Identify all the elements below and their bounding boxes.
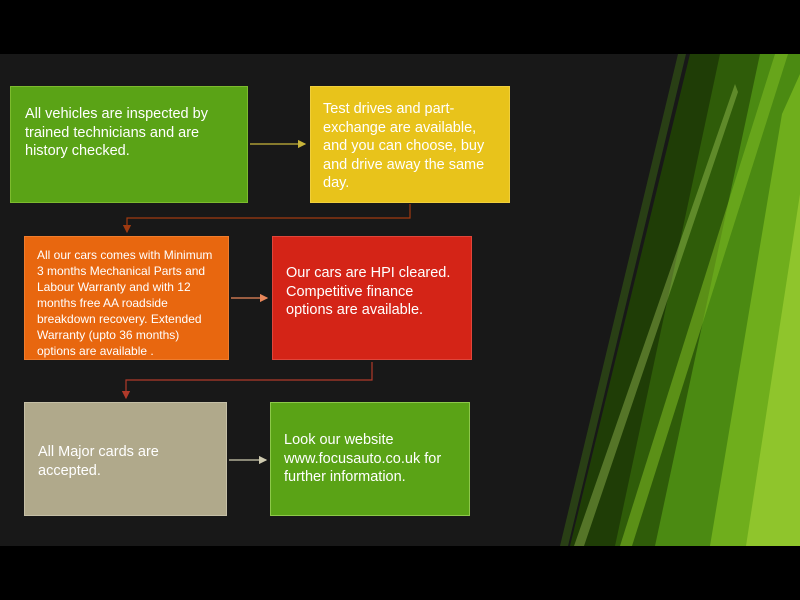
box-website-text: Look our website www.focusauto.co.uk for… bbox=[284, 431, 457, 487]
box-hpi-cleared[interactable]: Our cars are HPI cleared. Competitive fi… bbox=[272, 236, 472, 360]
slide-canvas: All vehicles are inspected by trained te… bbox=[0, 0, 800, 600]
box-major-cards[interactable]: All Major cards are accepted. bbox=[24, 402, 227, 516]
box-vehicles-inspected-text: All vehicles are inspected by trained te… bbox=[25, 105, 233, 161]
box-hpi-cleared-text: Our cars are HPI cleared. Competitive fi… bbox=[286, 264, 459, 320]
box-test-drives-text: Test drives and part-exchange are availa… bbox=[323, 100, 497, 193]
box-warranty[interactable]: All our cars comes with Minimum 3 months… bbox=[24, 236, 229, 360]
slide-area: All vehicles are inspected by trained te… bbox=[0, 54, 800, 546]
shards-svg bbox=[560, 54, 800, 546]
decorative-green-shards bbox=[560, 54, 800, 546]
box-warranty-text: All our cars comes with Minimum 3 months… bbox=[37, 248, 218, 360]
box-test-drives[interactable]: Test drives and part-exchange are availa… bbox=[310, 86, 510, 203]
box-major-cards-text: All Major cards are accepted. bbox=[38, 443, 214, 480]
box-vehicles-inspected[interactable]: All vehicles are inspected by trained te… bbox=[10, 86, 248, 203]
box-website[interactable]: Look our website www.focusauto.co.uk for… bbox=[270, 402, 470, 516]
